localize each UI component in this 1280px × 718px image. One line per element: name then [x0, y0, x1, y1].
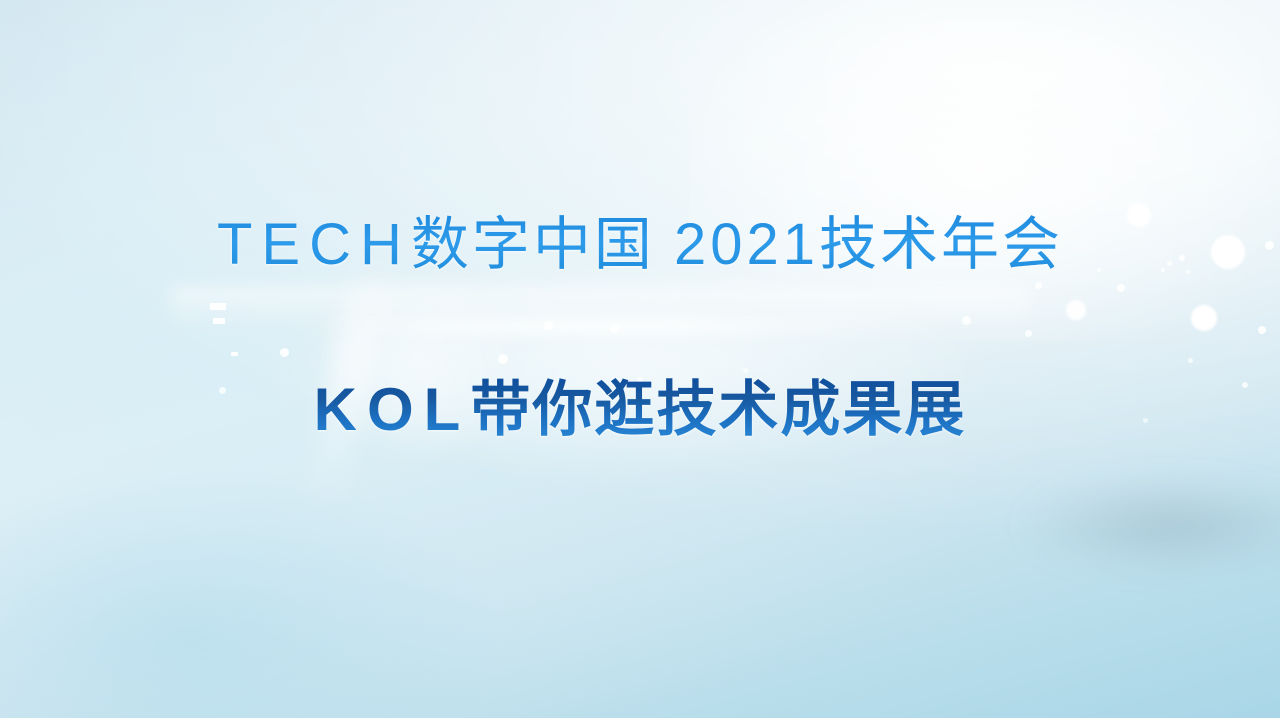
- bokeh-dot-19: [498, 354, 508, 364]
- event-subtitle-cn-part: 带你逛技术成果展: [470, 376, 966, 443]
- bokeh-dot-14: [1035, 282, 1042, 289]
- background-smudge-right: [1020, 480, 1280, 570]
- event-subtitle-latin-prefix: KOL: [314, 376, 471, 443]
- bokeh-dot-6: [1117, 284, 1125, 292]
- bokeh-dot-20: [280, 348, 289, 357]
- background-light-streak-horizontal: [300, 318, 920, 334]
- poster-canvas: TECH数字中国 2021技术年会 KOL带你逛技术成果展: [0, 0, 1280, 718]
- dash-1: [210, 303, 226, 310]
- background-haze-center: [250, 250, 1010, 480]
- background-haze-bottom-left: [0, 470, 500, 718]
- bokeh-dot-3: [1191, 305, 1217, 331]
- bokeh-dot-16: [962, 316, 971, 325]
- bokeh-dot-24: [1188, 358, 1193, 363]
- bokeh-dot-15: [1025, 330, 1032, 337]
- event-title-cn-part-1: 数字中国: [411, 212, 655, 277]
- event-title-primary: TECH数字中国 2021技术年会: [217, 214, 1063, 277]
- bokeh-dot-17: [544, 321, 553, 330]
- bokeh-dot-23: [743, 368, 748, 373]
- event-title-latin-prefix: TECH: [217, 212, 411, 277]
- background-haze-top-right: [690, 0, 1280, 340]
- bokeh-dot-5: [1258, 326, 1266, 334]
- headline-line-2-row: KOL带你逛技术成果展: [0, 378, 1280, 443]
- event-title-cn-part-2: 技术年会: [819, 212, 1063, 277]
- event-title-year: 2021: [674, 212, 819, 277]
- event-subtitle: KOL带你逛技术成果展: [314, 378, 967, 443]
- dash-3: [231, 352, 238, 356]
- headline-reflection-glow: [170, 286, 1030, 330]
- background-hex-glow: [300, 270, 530, 480]
- bokeh-dot-18: [610, 324, 619, 333]
- dash-2: [213, 318, 225, 324]
- headline-line-1-row: TECH数字中国 2021技术年会: [0, 214, 1280, 277]
- bokeh-dot-13: [1066, 300, 1086, 320]
